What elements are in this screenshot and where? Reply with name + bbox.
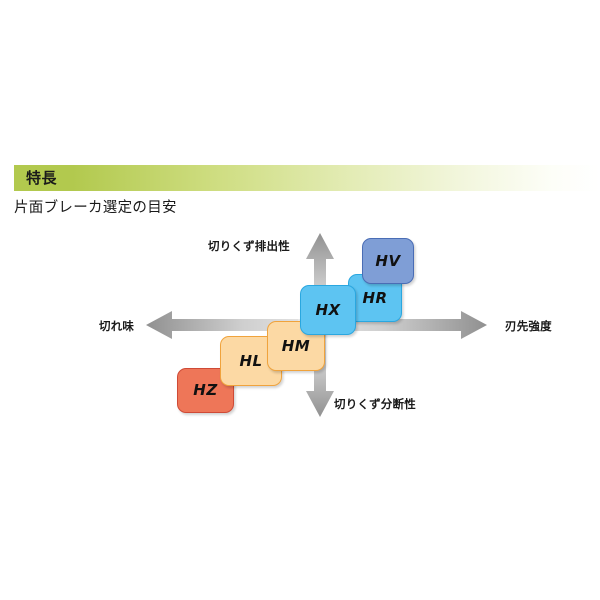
breaker-node-hx-label: HX [315,303,340,318]
section-header-band [14,165,600,191]
page-title: 特長 [26,167,57,189]
axis-label-chip-breaking: 切りくず分断性 [334,396,416,412]
axis-label-sharpness: 切れ味 [99,318,134,334]
page-canvas: 特長 片面ブレーカ選定の目安 [0,0,600,600]
axis-label-chip-evacuation: 切りくず排出性 [208,238,290,254]
breaker-node-hv[interactable]: HV [362,238,414,284]
axis-label-edge-strength: 刃先強度 [505,318,552,334]
breaker-node-hz-label: HZ [193,383,217,398]
breaker-node-hx[interactable]: HX [300,285,356,335]
breaker-node-hv-label: HV [375,254,400,269]
breaker-node-hl-label: HL [239,354,262,369]
page-subtitle: 片面ブレーカ選定の目安 [14,196,177,217]
breaker-node-hm-label: HM [282,339,310,354]
breaker-node-hr-label: HR [362,291,387,306]
